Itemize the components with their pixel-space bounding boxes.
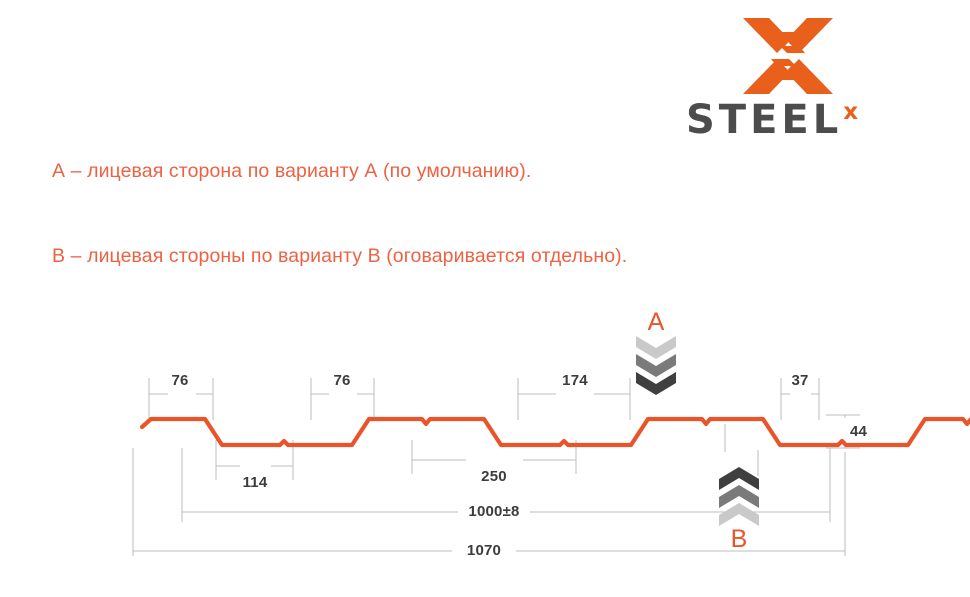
dim-label-crest-width-left: 76 — [171, 372, 188, 389]
dim-label-crest-pitch: 174 — [562, 372, 588, 389]
dimension-lines — [133, 378, 860, 556]
dim-label-profile-height: 44 — [850, 423, 867, 440]
dim-label-useful-width: 1000±8 — [468, 503, 519, 520]
dim-label-crest-width-mid: 76 — [333, 372, 350, 389]
corrugated-profile-path — [142, 419, 970, 445]
dim-label-valley-width: 114 — [243, 474, 268, 491]
dim-label-rib-pitch: 250 — [481, 468, 507, 485]
side-marker-a-letter: А — [648, 308, 665, 337]
side-marker-b-chevrons — [719, 467, 759, 526]
dim-label-top-flange-right: 37 — [791, 372, 808, 389]
side-marker-b-letter: В — [731, 525, 748, 554]
side-marker-a-chevrons — [636, 336, 676, 395]
dim-label-total-width: 1070 — [467, 542, 501, 559]
